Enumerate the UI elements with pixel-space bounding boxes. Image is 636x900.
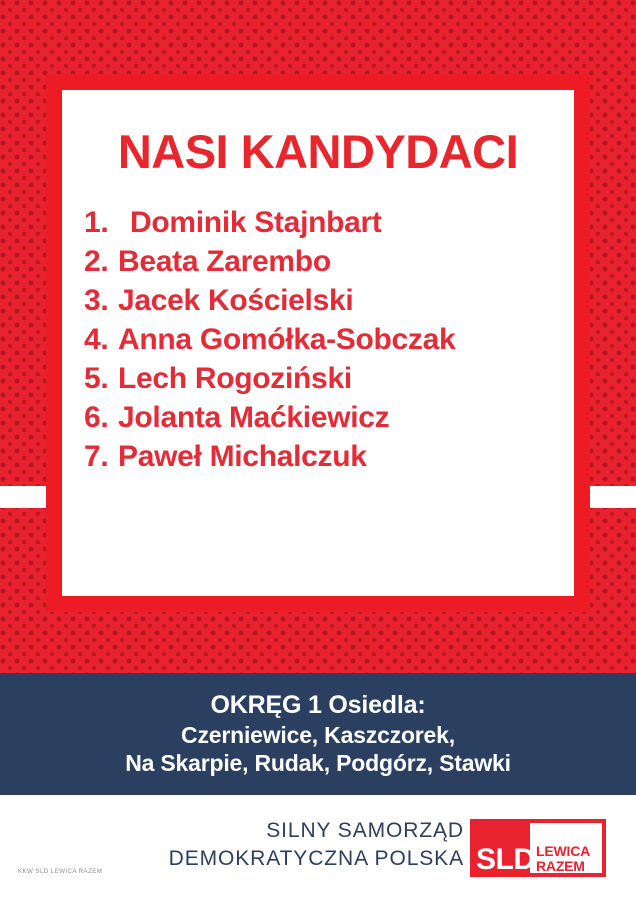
district-neighborhoods-line-2: Na Skarpie, Rudak, Podgórz, Stawki	[125, 749, 511, 778]
logo-white-panel: LEWICA RAZEM	[530, 823, 602, 873]
candidate-name: Jolanta Maćkiewicz	[118, 403, 389, 433]
district-neighborhoods-line-1: Czerniewice, Kaszczorek,	[181, 721, 455, 750]
slogan-line-2: DEMOKRATYCZNA POLSKA	[169, 845, 464, 873]
campaign-poster: NASI KANDYDACI 1. Dominik Stajnbart 2. B…	[0, 0, 636, 900]
left-edge-notch	[0, 486, 48, 508]
candidate-name: Jacek Kościelski	[118, 286, 353, 316]
campaign-slogan: SILNY SAMORZĄD DEMOKRATYCZNA POLSKA	[169, 817, 464, 873]
candidate-name: Dominik Stajnbart	[130, 208, 382, 238]
right-edge-notch	[588, 486, 636, 508]
candidates-card: NASI KANDYDACI 1. Dominik Stajnbart 2. B…	[62, 90, 574, 596]
list-item: 4. Anna Gomółka-Sobczak	[84, 325, 572, 364]
logo-sld-text: SLD	[476, 845, 535, 875]
list-item: 5. Lech Rogoziński	[84, 364, 572, 403]
candidate-name: Beata Zarembo	[118, 247, 331, 277]
list-item: 3. Jacek Kościelski	[84, 286, 572, 325]
candidate-name: Lech Rogoziński	[118, 364, 352, 394]
logo-lewica-text: LEWICA	[536, 844, 590, 858]
list-item: 7. Paweł Michalczuk	[84, 442, 572, 481]
district-heading: OKRĘG 1 Osiedla:	[211, 690, 426, 721]
candidate-number: 6.	[84, 403, 118, 433]
candidate-number: 4.	[84, 325, 118, 355]
logo-razem-text: RAZEM	[536, 859, 585, 873]
candidate-number: 1.	[84, 208, 130, 238]
candidate-number: 3.	[84, 286, 118, 316]
candidate-number: 2.	[84, 247, 118, 277]
candidate-name: Anna Gomółka-Sobczak	[118, 325, 455, 355]
candidate-name: Paweł Michalczuk	[118, 442, 367, 472]
page-title: NASI KANDYDACI	[62, 128, 574, 175]
list-item: 2. Beata Zarembo	[84, 247, 572, 286]
district-band: OKRĘG 1 Osiedla: Czerniewice, Kaszczorek…	[0, 673, 636, 795]
list-item: 6. Jolanta Maćkiewicz	[84, 403, 572, 442]
candidate-number: 5.	[84, 364, 118, 394]
committee-disclaimer: KKW SLD LEWICA RAZEM	[18, 868, 102, 875]
sld-lewica-razem-logo: SLD LEWICA RAZEM	[470, 819, 606, 877]
candidate-number: 7.	[84, 442, 118, 472]
candidate-list: 1. Dominik Stajnbart 2. Beata Zarembo 3.…	[84, 208, 572, 481]
slogan-line-1: SILNY SAMORZĄD	[169, 817, 464, 845]
list-item: 1. Dominik Stajnbart	[84, 208, 572, 247]
